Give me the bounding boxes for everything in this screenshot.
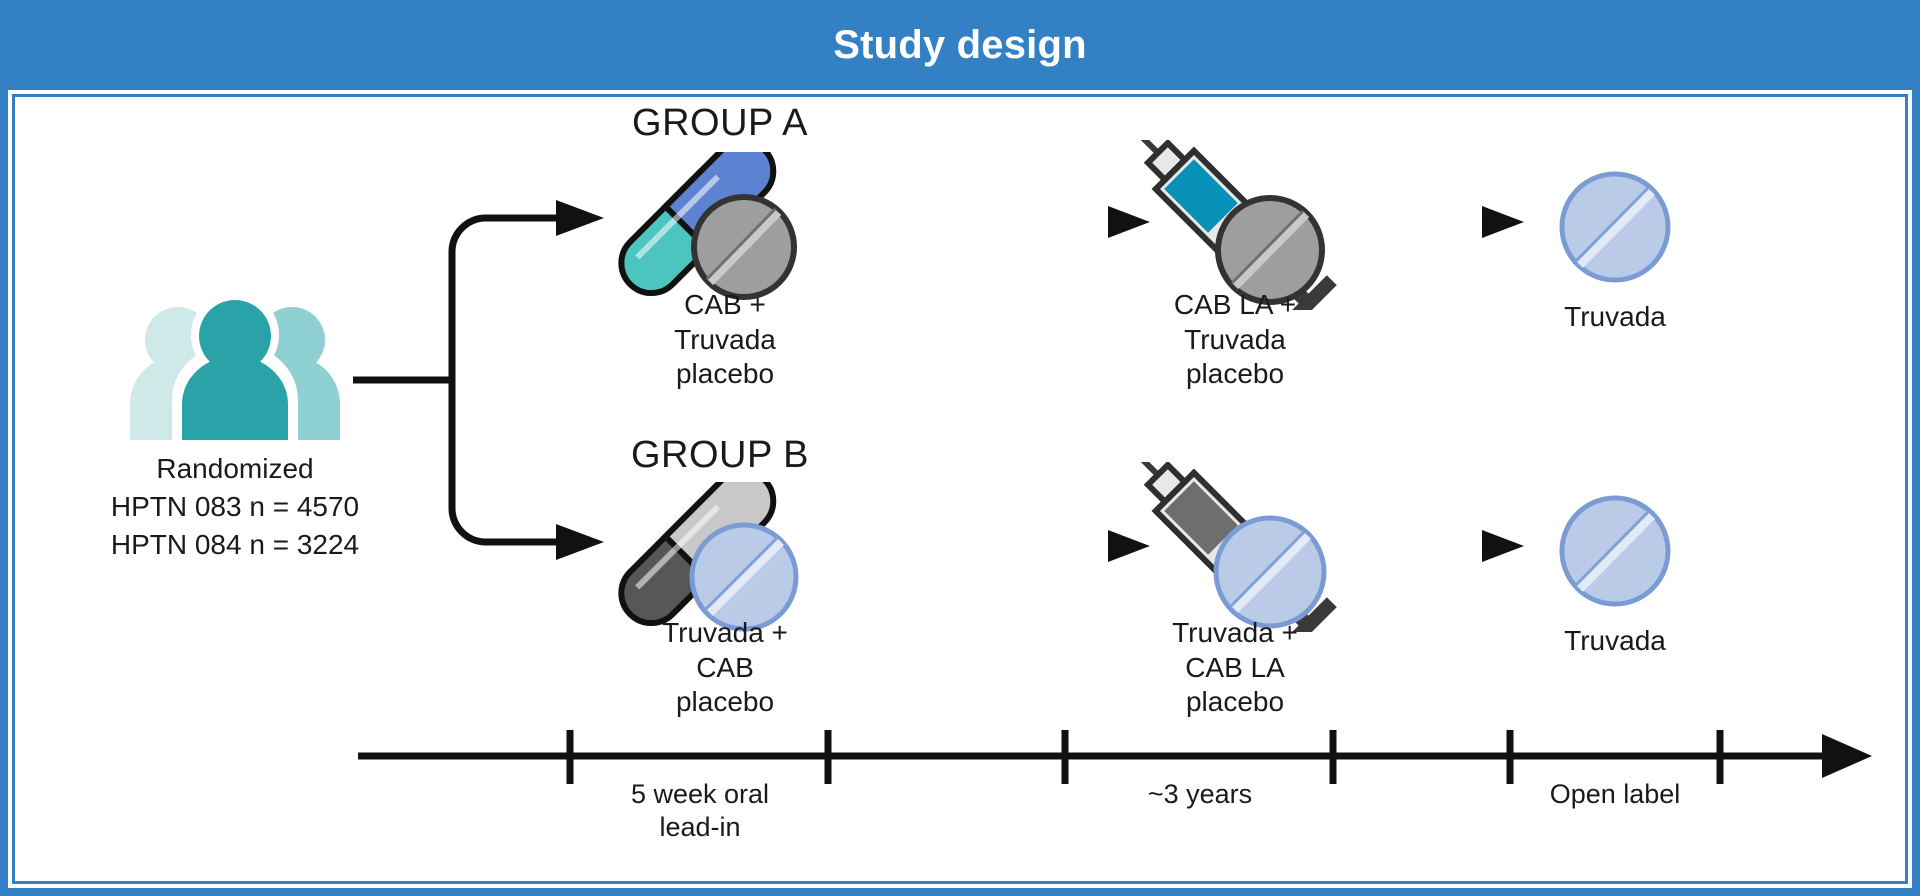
capsule-and-tablet-icon-b (594, 482, 844, 632)
group-b-injection-label: Truvada + CAB LA placebo (1090, 616, 1380, 720)
group-b-oral-label: Truvada + CAB placebo (580, 616, 870, 720)
group-a-oral-label: CAB + Truvada placebo (580, 288, 870, 392)
randomized-label-line3: HPTN 084 n = 3224 (60, 528, 410, 563)
tablet-icon-b-openlabel (1556, 492, 1674, 610)
group-b-openlabel-label: Truvada (1490, 624, 1740, 659)
tablet-shape-a2-grey (1218, 198, 1322, 302)
tablet-icon-a-openlabel (1556, 168, 1674, 286)
group-a-injection-label: CAB LA + Truvada placebo (1090, 288, 1380, 392)
group-a-openlabel-label: Truvada (1490, 300, 1740, 335)
capsule-and-tablet-icon-a (594, 152, 844, 302)
randomized-label-line1: Randomized (60, 452, 410, 487)
group-b-title: GROUP B (560, 432, 880, 479)
syringe-and-tablet-icon-a (1110, 140, 1360, 310)
group-a-title: GROUP A (560, 100, 880, 147)
page-title: Study design (833, 23, 1087, 68)
tablet-shape-b2-blue (1216, 518, 1324, 626)
figure-header-bar: Study design (0, 0, 1920, 90)
tablet-shape-b-blue (692, 525, 796, 629)
tablet-shape-a-grey (694, 197, 794, 297)
timeline-phase-lead-in-label: 5 week oral lead-in (565, 778, 835, 845)
timeline-phase-open-label-label: Open label (1505, 778, 1725, 811)
timeline-phase-injection-label: ~3 years (1060, 778, 1340, 811)
people-group-icon (120, 300, 350, 440)
syringe-and-tablet-icon-b (1110, 462, 1360, 632)
study-design-figure: Study design Rando (0, 0, 1920, 896)
randomized-label-line2: HPTN 083 n = 4570 (60, 490, 410, 525)
